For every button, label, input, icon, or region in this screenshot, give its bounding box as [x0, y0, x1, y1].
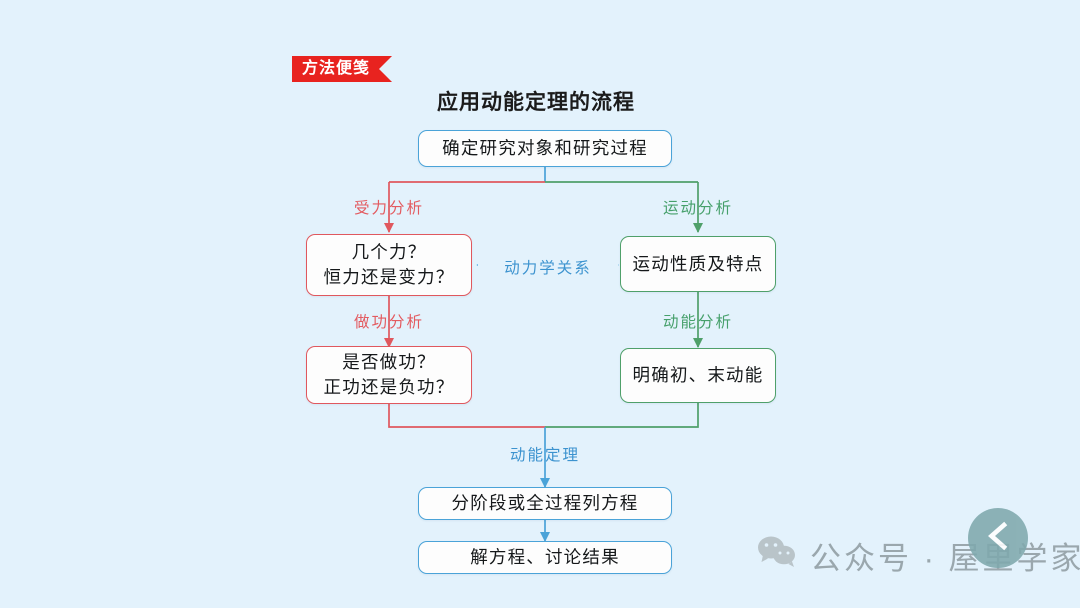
node-work-analysis-label-line1: 是否做功？ [342, 350, 436, 375]
node-kinetic-energy-label: 明确初、末动能 [633, 363, 764, 388]
node-solve-equation-label: 解方程、讨论结果 [470, 545, 620, 570]
page-title-text: 应用动能定理的流程 [437, 86, 635, 116]
node-force-analysis-label-line1: 几个力？ [352, 240, 427, 265]
back-button[interactable] [968, 508, 1028, 568]
node-kinetic-energy[interactable]: 明确初、末动能 [620, 348, 776, 403]
node-motion-property[interactable]: 运动性质及特点 [620, 236, 776, 292]
node-write-equation-label: 分阶段或全过程列方程 [452, 491, 639, 516]
edge-label-kinetic-energy-theorem: 动能定理 [475, 443, 615, 465]
slide-canvas: 方法便笺 应用动能定理的流程 [0, 0, 1080, 608]
edge-label-energy-analysis: 动能分析 [628, 310, 768, 332]
edge-label-work-analysis: 做功分析 [319, 310, 459, 332]
watermark: 公众号 · 屋里学家 [757, 533, 1080, 578]
watermark-text: 公众号 · 屋里学家 [810, 533, 1080, 578]
node-start[interactable]: 确定研究对象和研究过程 [418, 130, 672, 167]
node-force-analysis[interactable]: 几个力？ 恒力还是变力？ [306, 234, 472, 296]
node-start-label: 确定研究对象和研究过程 [442, 136, 648, 161]
node-force-analysis-label-line2: 恒力还是变力？ [324, 265, 455, 290]
node-write-equation[interactable]: 分阶段或全过程列方程 [418, 487, 672, 520]
node-motion-property-label: 运动性质及特点 [633, 252, 764, 277]
node-work-analysis[interactable]: 是否做功？ 正功还是负功？ [306, 346, 472, 404]
method-note-banner: 方法便笺 [292, 56, 392, 82]
edge-label-force-analysis: 受力分析 [319, 196, 459, 218]
edge-label-motion-analysis: 运动分析 [628, 196, 768, 218]
page-title: 应用动能定理的流程 [0, 86, 1080, 116]
chevron-left-icon [984, 521, 1012, 556]
wechat-icon [757, 535, 797, 576]
edge-label-dynamics-relation: 动力学关系 [478, 256, 618, 278]
node-solve-equation[interactable]: 解方程、讨论结果 [418, 541, 672, 574]
node-work-analysis-label-line2: 正功还是负功？ [324, 375, 455, 400]
